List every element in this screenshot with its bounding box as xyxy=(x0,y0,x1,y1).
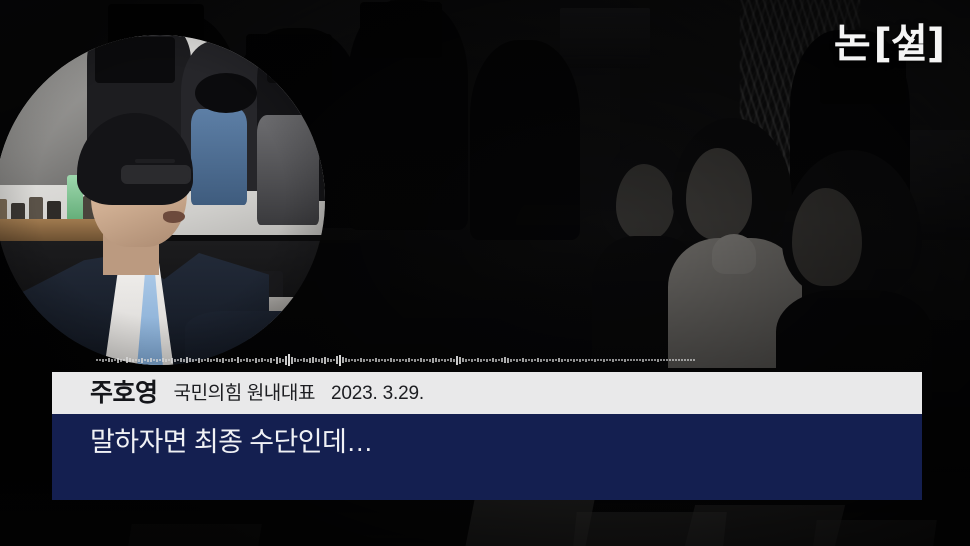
logo-bracket-open: [ xyxy=(874,21,891,67)
waveform-bar xyxy=(177,359,179,361)
waveform-bar xyxy=(666,359,668,361)
waveform-bar xyxy=(105,359,107,361)
waveform-bar xyxy=(240,359,242,362)
waveform-bar xyxy=(294,358,296,362)
camera-icon xyxy=(267,41,325,83)
waveform-bar xyxy=(360,358,362,362)
waveform-bar xyxy=(582,359,584,361)
waveform-bar xyxy=(453,359,455,362)
waveform-bar xyxy=(603,359,605,362)
waveform-bar xyxy=(405,359,407,362)
waveform-bar xyxy=(366,359,368,361)
waveform-bar xyxy=(636,359,638,361)
waveform-bar xyxy=(519,359,521,361)
waveform-bar xyxy=(414,359,416,362)
waveform-bar xyxy=(162,358,164,362)
waveform-bar xyxy=(588,359,590,361)
waveform-bar xyxy=(687,359,689,361)
waveform-bar xyxy=(153,359,155,361)
waveform-bar xyxy=(630,359,632,361)
waveform-bar xyxy=(402,359,404,361)
waveform-bar xyxy=(249,359,251,362)
waveform-bar xyxy=(387,359,389,361)
waveform-bar xyxy=(471,359,473,362)
waveform-bar xyxy=(207,358,209,362)
waveform-bar xyxy=(111,359,113,362)
waveform-bar xyxy=(480,359,482,362)
waveform-bar xyxy=(147,359,149,362)
waveform-bar xyxy=(660,359,662,361)
waveform-bar xyxy=(612,359,614,362)
waveform-bar xyxy=(426,359,428,361)
waveform-bar xyxy=(282,359,284,362)
waveform-bar xyxy=(663,359,665,361)
waveform-bar xyxy=(315,358,317,362)
waveform-bar xyxy=(216,358,218,362)
waveform-bar xyxy=(210,359,212,362)
waveform-bar xyxy=(228,359,230,362)
waveform-bar xyxy=(222,358,224,363)
waveform-bar xyxy=(144,359,146,361)
waveform-bar xyxy=(396,359,398,361)
waveform-bar xyxy=(195,359,197,361)
waveform-bar xyxy=(309,358,311,363)
waveform-bar xyxy=(141,358,143,363)
waveform-bar xyxy=(411,359,413,361)
waveform-bar xyxy=(546,359,548,362)
speaker-circular-inset xyxy=(0,35,325,365)
waveform-bar xyxy=(261,358,263,362)
waveform-bar xyxy=(468,359,470,361)
waveform-bar xyxy=(150,358,152,362)
waveform-bar xyxy=(537,358,539,362)
waveform-bar xyxy=(180,358,182,362)
waveform-bar xyxy=(564,359,566,361)
waveform-bar xyxy=(507,358,509,363)
waveform-bar xyxy=(390,358,392,362)
waveform-bar xyxy=(609,359,611,361)
waveform-bar xyxy=(123,359,125,361)
waveform-bar xyxy=(303,358,305,362)
waveform-bar xyxy=(333,359,335,361)
waveform-bar xyxy=(336,356,338,364)
waveform-bar xyxy=(339,355,341,366)
waveform-bar xyxy=(498,359,500,361)
waveform-bar xyxy=(285,356,287,365)
waveform-bar xyxy=(276,357,278,364)
waveform-bar xyxy=(522,358,524,362)
waveform-bar xyxy=(561,359,563,362)
waveform-bar xyxy=(579,359,581,362)
waveform-bar xyxy=(651,359,653,361)
waveform-bar xyxy=(165,359,167,362)
waveform-bar xyxy=(510,359,512,362)
waveform-bar xyxy=(531,359,533,362)
waveform-bar xyxy=(417,359,419,361)
caption-quote-bar: 말하자면 최종 수단인데… xyxy=(52,414,922,500)
waveform-bar xyxy=(576,359,578,361)
waveform-bar xyxy=(639,359,641,361)
waveform-bar xyxy=(483,359,485,361)
waveform-bar xyxy=(486,359,488,362)
waveform-bar xyxy=(645,359,647,361)
waveform-bar xyxy=(570,359,572,361)
waveform-bar xyxy=(378,359,380,362)
waveform-bar xyxy=(231,358,233,362)
waveform-bar xyxy=(129,358,131,362)
waveform-bar xyxy=(108,358,110,362)
logo-bracket-close: ] xyxy=(927,21,944,67)
waveform-bar xyxy=(594,359,596,362)
waveform-bar xyxy=(681,359,683,361)
waveform-bar xyxy=(618,359,620,361)
waveform-bar xyxy=(552,359,554,362)
waveform-bar xyxy=(450,358,452,362)
waveform-bar xyxy=(342,357,344,363)
waveform-bar xyxy=(258,359,260,362)
waveform-bar xyxy=(624,359,626,362)
waveform-bar xyxy=(381,359,383,361)
waveform-bar xyxy=(201,359,203,362)
waveform-bar xyxy=(549,359,551,361)
waveform-bar xyxy=(621,359,623,361)
waveform-bar xyxy=(174,359,176,362)
channel-logo: 논 [설] xyxy=(834,24,948,64)
waveform-bar xyxy=(114,359,116,361)
waveform-bar xyxy=(393,359,395,362)
waveform-bar xyxy=(318,359,320,362)
waveform-bar xyxy=(135,359,137,361)
waveform-bar xyxy=(492,358,494,362)
waveform-bar xyxy=(456,356,458,365)
waveform-bar xyxy=(345,358,347,362)
waveform-bar xyxy=(246,358,248,362)
waveform-bar xyxy=(273,359,275,361)
waveform-bar xyxy=(243,359,245,361)
waveform-bar xyxy=(99,359,101,361)
waveform-bar xyxy=(513,359,515,361)
waveform-bar xyxy=(327,358,329,362)
waveform-bar xyxy=(504,357,506,363)
audio-waveform xyxy=(96,352,608,368)
waveform-bar xyxy=(669,359,671,361)
waveform-bar xyxy=(558,358,560,362)
logo-glyph-left: 논 xyxy=(834,24,870,64)
waveform-bar xyxy=(567,359,569,362)
waveform-bar xyxy=(525,359,527,362)
waveform-bar xyxy=(633,359,635,361)
waveform-bar xyxy=(420,358,422,362)
caption-quote-text: 말하자면 최종 수단인데… xyxy=(90,426,373,460)
waveform-bar xyxy=(321,358,323,363)
waveform-bar xyxy=(237,357,239,363)
waveform-bar xyxy=(543,359,545,361)
waveform-bar xyxy=(168,359,170,361)
waveform-bar xyxy=(528,359,530,361)
waveform-bar xyxy=(399,359,401,362)
waveform-bar xyxy=(489,359,491,361)
waveform-bar xyxy=(534,359,536,361)
waveform-bar xyxy=(198,358,200,363)
waveform-bar xyxy=(363,359,365,362)
waveform-bar xyxy=(264,359,266,361)
waveform-bar xyxy=(591,359,593,361)
waveform-bar xyxy=(684,359,686,361)
waveform-bar xyxy=(102,359,104,362)
waveform-bar xyxy=(183,359,185,362)
waveform-bar xyxy=(657,359,659,362)
logo-glyph-right-group: [설] xyxy=(870,24,948,64)
waveform-bar xyxy=(654,359,656,361)
waveform-bar xyxy=(477,358,479,362)
waveform-bar xyxy=(306,359,308,362)
inset-vignette xyxy=(0,35,325,365)
waveform-bar xyxy=(606,359,608,361)
waveform-bar xyxy=(648,359,650,361)
waveform-bar xyxy=(234,359,236,361)
caption-speaker-name: 주호영 xyxy=(90,381,158,406)
waveform-bar xyxy=(540,359,542,362)
waveform-bar xyxy=(369,359,371,362)
waveform-bar xyxy=(597,359,599,361)
waveform-bar xyxy=(192,359,194,362)
waveform-bar xyxy=(213,359,215,361)
waveform-bar xyxy=(204,359,206,361)
waveform-bar xyxy=(297,359,299,362)
waveform-bar xyxy=(678,359,680,361)
waveform-bar xyxy=(465,359,467,362)
waveform-bar xyxy=(330,359,332,362)
waveform-bar xyxy=(408,358,410,362)
waveform-bar xyxy=(291,357,293,364)
waveform-bar xyxy=(279,358,281,363)
waveform-bar xyxy=(516,359,518,362)
waveform-bar xyxy=(438,359,440,362)
waveform-bar xyxy=(375,358,377,362)
waveform-bar xyxy=(495,359,497,362)
waveform-bar xyxy=(432,358,434,363)
waveform-bar xyxy=(435,358,437,362)
waveform-bar xyxy=(351,359,353,361)
caption-speaker-role: 국민의힘 원내대표 xyxy=(174,384,316,403)
waveform-bar xyxy=(585,359,587,362)
waveform-bar xyxy=(615,359,617,361)
waveform-bar xyxy=(573,359,575,362)
broadcast-frame: 주호영 국민의힘 원내대표 2023. 3.29. 말하자면 최종 수단인데… … xyxy=(0,0,970,546)
waveform-bar xyxy=(642,359,644,362)
waveform-bar xyxy=(357,359,359,361)
waveform-bar xyxy=(501,358,503,362)
waveform-bar xyxy=(354,359,356,362)
waveform-bar xyxy=(189,358,191,362)
waveform-bar xyxy=(324,357,326,364)
waveform-bar xyxy=(96,359,98,361)
waveform-bar xyxy=(171,358,173,363)
waveform-bar xyxy=(459,357,461,364)
waveform-bar xyxy=(675,359,677,361)
waveform-bar xyxy=(225,359,227,361)
waveform-bar xyxy=(267,359,269,362)
waveform-bar xyxy=(132,359,134,362)
waveform-bar xyxy=(126,357,128,363)
waveform-bar xyxy=(600,359,602,361)
waveform-bar xyxy=(462,358,464,362)
waveform-bar xyxy=(441,359,443,361)
waveform-bar xyxy=(348,359,350,362)
waveform-bar xyxy=(120,359,122,362)
caption-date: 2023. 3.29. xyxy=(331,384,424,403)
waveform-bar xyxy=(627,359,629,361)
waveform-bar xyxy=(255,358,257,363)
waveform-bar xyxy=(300,359,302,361)
caption-speaker-bar: 주호영 국민의힘 원내대표 2023. 3.29. xyxy=(52,372,922,414)
waveform-bar xyxy=(693,359,695,361)
waveform-bar xyxy=(690,359,692,361)
waveform-bar xyxy=(384,359,386,362)
waveform-bar xyxy=(219,359,221,362)
waveform-bar xyxy=(555,359,557,361)
waveform-bar xyxy=(372,359,374,361)
waveform-bar xyxy=(252,359,254,361)
waveform-bar xyxy=(270,358,272,363)
waveform-bar xyxy=(186,357,188,363)
waveform-bar xyxy=(474,359,476,361)
waveform-bar xyxy=(159,359,161,361)
waveform-bar xyxy=(138,359,140,362)
waveform-bar xyxy=(429,359,431,362)
waveform-bar xyxy=(447,359,449,361)
waveform-bar xyxy=(444,359,446,362)
waveform-bar xyxy=(423,359,425,362)
waveform-bar xyxy=(288,354,290,366)
waveform-bar xyxy=(156,359,158,362)
waveform-bar xyxy=(672,359,674,361)
waveform-bar xyxy=(312,357,314,363)
waveform-bar xyxy=(117,358,119,363)
